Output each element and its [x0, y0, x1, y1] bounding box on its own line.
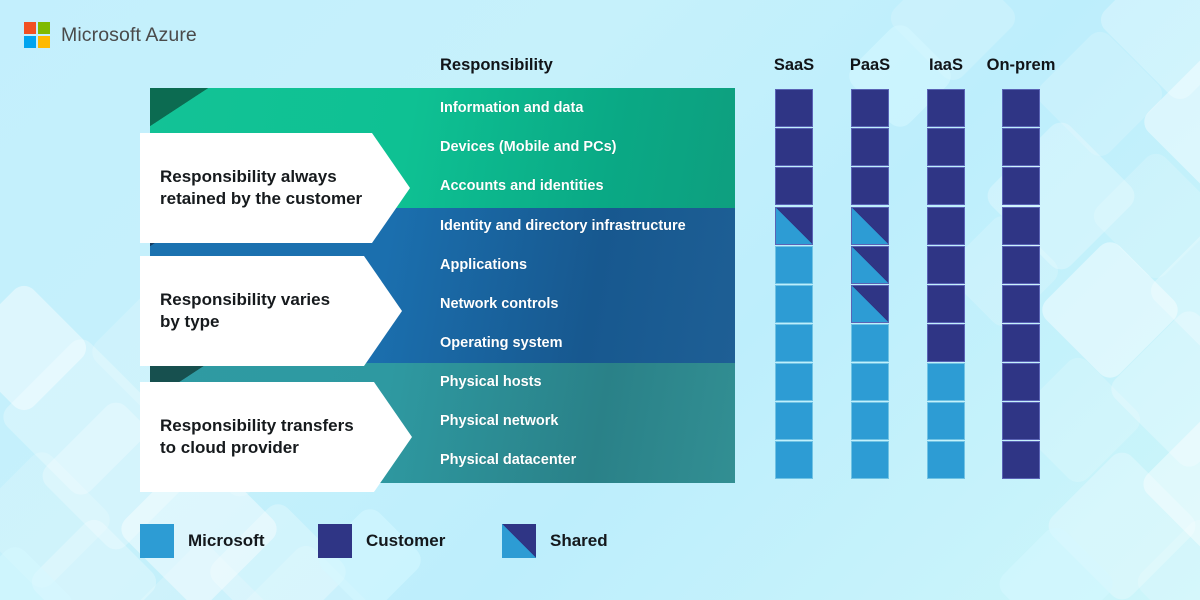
matrix-cell-network-controls-on-prem [1002, 285, 1040, 323]
background-diamond [1145, 213, 1200, 369]
swatch-customer [1002, 246, 1040, 284]
matrix-cell-operating-system-iaas [927, 324, 965, 362]
row-label-network-controls: Network controls [440, 296, 558, 312]
logo-square-yellow [38, 36, 50, 48]
matrix-cell-applications-saas [775, 246, 813, 284]
matrix-cell-physical-hosts-saas [775, 363, 813, 401]
background-diamond [0, 446, 116, 593]
background-diamond [1106, 306, 1200, 473]
matrix-cell-network-controls-paas [851, 285, 889, 323]
matrix-cell-physical-hosts-iaas [927, 363, 965, 401]
callout-1-line2: retained by the customer [160, 189, 362, 208]
swatch-shared [851, 207, 889, 245]
matrix-cell-devices-mobile-and-pcs--on-prem [1002, 128, 1040, 166]
swatch-customer [927, 167, 965, 205]
background-diamond [0, 334, 164, 501]
matrix-cell-devices-mobile-and-pcs--paas [851, 128, 889, 166]
callout-varies-by-type: Responsibility variesby type [140, 256, 402, 366]
swatch-microsoft [851, 324, 889, 362]
swatch-customer [1002, 441, 1040, 479]
swatch-customer [927, 285, 965, 323]
background-diamond [1138, 408, 1200, 561]
swatch-customer [775, 89, 813, 127]
matrix-cell-information-and-data-on-prem [1002, 89, 1040, 127]
swatch-customer [927, 207, 965, 245]
swatch-microsoft [775, 441, 813, 479]
legend-item-shared: Shared [502, 524, 608, 558]
row-label-devices-mobile-and-pcs-: Devices (Mobile and PCs) [440, 139, 616, 155]
column-header-on-prem: On-prem [973, 56, 1069, 75]
microsoft-logo-icon [24, 22, 50, 48]
matrix-cell-devices-mobile-and-pcs--iaas [927, 128, 965, 166]
logo-square-blue [24, 36, 36, 48]
swatch-customer [851, 89, 889, 127]
matrix-cell-identity-and-directory-infrastructure-on-prem [1002, 207, 1040, 245]
legend-swatch-customer [318, 524, 352, 558]
matrix-cell-operating-system-saas [775, 324, 813, 362]
matrix-cell-physical-datacenter-on-prem [1002, 441, 1040, 479]
swatch-microsoft [775, 363, 813, 401]
callout-always-customer: Responsibility alwaysretained by the cus… [140, 133, 410, 243]
swatch-shared [851, 285, 889, 323]
callout-2-line2: by type [160, 312, 220, 331]
legend-swatch-shared [502, 524, 536, 558]
matrix-cell-identity-and-directory-infrastructure-saas [775, 207, 813, 245]
background-diamond [1132, 514, 1200, 600]
band-green-fold-icon [150, 88, 208, 126]
swatch-customer [1002, 89, 1040, 127]
swatch-customer [927, 89, 965, 127]
swatch-customer [775, 167, 813, 205]
swatch-customer [1002, 207, 1040, 245]
background-diamond [994, 522, 1118, 600]
swatch-microsoft [927, 441, 965, 479]
swatch-customer [1002, 402, 1040, 440]
callout-2-text: Responsibility variesby type [160, 289, 330, 334]
swatch-customer [927, 324, 965, 362]
row-label-physical-hosts: Physical hosts [440, 374, 542, 390]
brand-lockup: Microsoft Azure [24, 22, 197, 48]
swatch-shared [775, 207, 813, 245]
matrix-cell-accounts-and-identities-paas [851, 167, 889, 205]
matrix-cell-physical-network-iaas [927, 402, 965, 440]
matrix-cell-physical-network-paas [851, 402, 889, 440]
matrix-cell-physical-datacenter-paas [851, 441, 889, 479]
matrix-cell-operating-system-on-prem [1002, 324, 1040, 362]
matrix-cell-applications-paas [851, 246, 889, 284]
background-diamond [1043, 447, 1200, 600]
swatch-customer [927, 246, 965, 284]
matrix-cell-information-and-data-iaas [927, 89, 965, 127]
swatch-customer [851, 128, 889, 166]
logo-square-red [24, 22, 36, 34]
swatch-customer [927, 128, 965, 166]
matrix-cell-operating-system-paas [851, 324, 889, 362]
background-diamond [1032, 26, 1168, 162]
legend-label-shared: Shared [550, 531, 608, 551]
swatch-microsoft [775, 402, 813, 440]
swatch-microsoft [775, 246, 813, 284]
row-label-physical-network: Physical network [440, 413, 558, 429]
background-diamond [1138, 48, 1200, 195]
swatch-customer [1002, 285, 1040, 323]
swatch-customer [1002, 363, 1040, 401]
background-diamond [0, 280, 92, 416]
matrix-cell-physical-network-saas [775, 402, 813, 440]
row-label-identity-and-directory-infrastructure: Identity and directory infrastructure [440, 218, 686, 234]
matrix-cell-network-controls-iaas [927, 285, 965, 323]
matrix-cell-accounts-and-identities-on-prem [1002, 167, 1040, 205]
matrix-cell-information-and-data-paas [851, 89, 889, 127]
swatch-microsoft [851, 363, 889, 401]
legend-item-customer: Customer [318, 524, 445, 558]
callout-3-line1: Responsibility transfers [160, 416, 354, 435]
callout-3-text: Responsibility transfersto cloud provide… [160, 415, 354, 460]
callout-transfers-to-provider: Responsibility transfersto cloud provide… [140, 382, 412, 492]
matrix-cell-physical-datacenter-saas [775, 441, 813, 479]
swatch-customer [1002, 128, 1040, 166]
swatch-customer [1002, 324, 1040, 362]
brand-name: Microsoft Azure [61, 24, 197, 47]
row-label-accounts-and-identities: Accounts and identities [440, 178, 604, 194]
legend-swatch-microsoft [140, 524, 174, 558]
matrix-cell-applications-on-prem [1002, 246, 1040, 284]
azure-shared-responsibility-diagram: Microsoft Azure Responsibility SaaSPaaSI… [0, 0, 1200, 600]
swatch-microsoft [851, 441, 889, 479]
swatch-microsoft [927, 402, 965, 440]
matrix-cell-identity-and-directory-infrastructure-iaas [927, 207, 965, 245]
matrix-cell-applications-iaas [927, 246, 965, 284]
swatch-microsoft [927, 363, 965, 401]
background-diamond [1095, 0, 1200, 105]
matrix-cell-accounts-and-identities-iaas [927, 167, 965, 205]
matrix-cell-devices-mobile-and-pcs--saas [775, 128, 813, 166]
swatch-microsoft [775, 324, 813, 362]
callout-1-line1: Responsibility always [160, 167, 337, 186]
swatch-microsoft [775, 285, 813, 323]
matrix-cell-physical-hosts-paas [851, 363, 889, 401]
row-label-operating-system: Operating system [440, 335, 563, 351]
callout-2-line1: Responsibility varies [160, 290, 330, 309]
swatch-shared [851, 246, 889, 284]
swatch-customer [1002, 167, 1040, 205]
matrix-cell-information-and-data-saas [775, 89, 813, 127]
row-label-applications: Applications [440, 257, 527, 273]
callout-1-text: Responsibility alwaysretained by the cus… [160, 166, 362, 211]
callout-3-line2: to cloud provider [160, 438, 299, 457]
matrix-cell-network-controls-saas [775, 285, 813, 323]
background-diamond [1088, 148, 1200, 284]
matrix-cell-identity-and-directory-infrastructure-paas [851, 207, 889, 245]
matrix-cell-physical-datacenter-iaas [927, 441, 965, 479]
swatch-customer [851, 167, 889, 205]
legend-item-microsoft: Microsoft [140, 524, 265, 558]
logo-square-green [38, 22, 50, 34]
matrix-cell-physical-network-on-prem [1002, 402, 1040, 440]
swatch-customer [775, 128, 813, 166]
column-header-responsibility: Responsibility [440, 56, 553, 75]
row-label-physical-datacenter: Physical datacenter [440, 452, 576, 468]
matrix-cell-physical-hosts-on-prem [1002, 363, 1040, 401]
background-diamond [0, 541, 79, 600]
legend-label-microsoft: Microsoft [188, 531, 265, 551]
matrix-cell-accounts-and-identities-saas [775, 167, 813, 205]
background-diamond [1036, 236, 1183, 383]
row-label-information-and-data: Information and data [440, 100, 583, 116]
legend-label-customer: Customer [366, 531, 445, 551]
swatch-microsoft [851, 402, 889, 440]
